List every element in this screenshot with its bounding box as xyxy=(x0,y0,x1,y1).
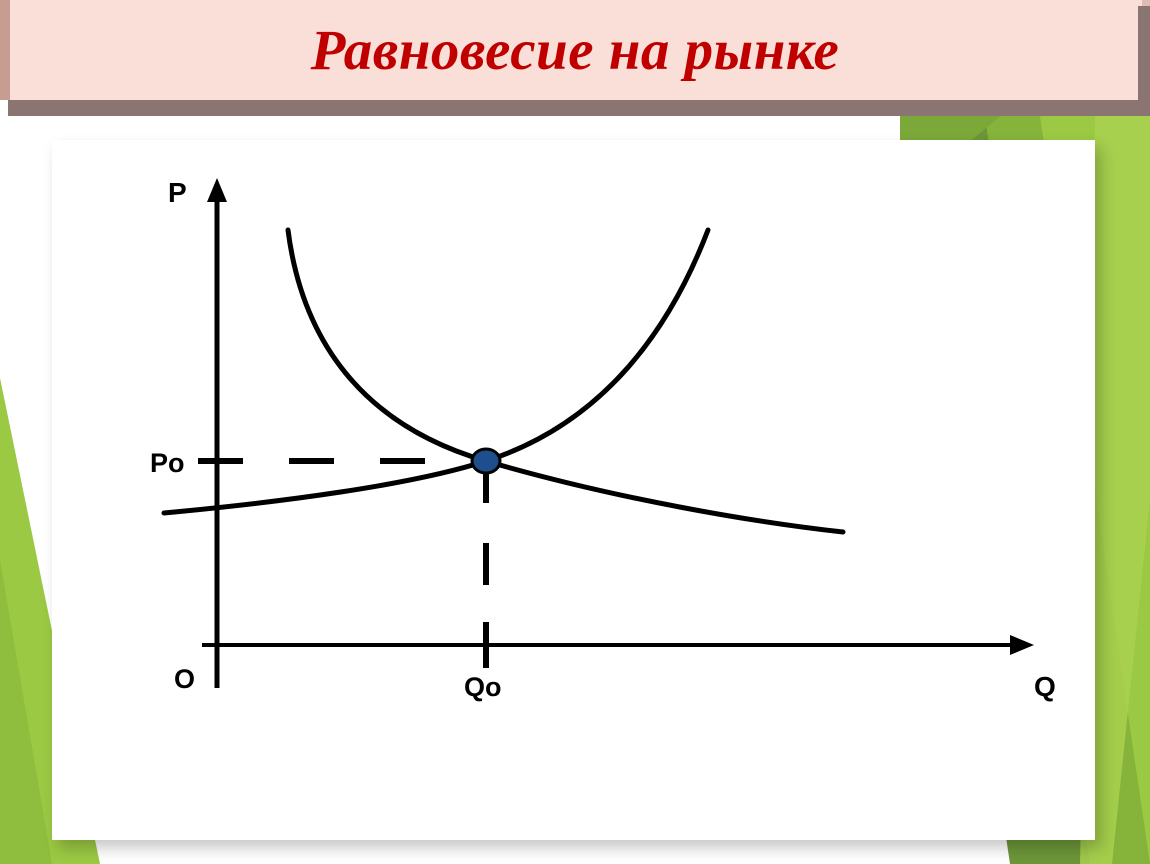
content-card: P Q O Pо Qо Pо – равновесная цена Qо – р… xyxy=(52,140,1095,840)
supply-curve xyxy=(164,230,708,513)
title-bar: Равновесие на рынке xyxy=(8,0,1142,100)
title-bevel-left xyxy=(0,0,10,100)
page-title: Равновесие на рынке xyxy=(8,0,1142,100)
caption-equilibrium-price: Pо – равновесная цена xyxy=(170,860,530,864)
y-tick-label-po: Pо xyxy=(150,448,185,478)
x-axis-arrow-head xyxy=(1010,635,1034,655)
y-axis-arrow-head xyxy=(207,178,227,202)
origin-label: O xyxy=(174,664,195,694)
caption-equilibrium-quantity: Qо – равновесное количество xyxy=(625,860,1025,864)
x-axis-label: Q xyxy=(1034,671,1056,702)
slide-canvas: Равновесие на рынке xyxy=(0,0,1150,864)
x-tick-label-qo: Qо xyxy=(464,672,502,702)
y-axis-label: P xyxy=(168,177,187,208)
equilibrium-point xyxy=(472,449,500,473)
title-bevel-right xyxy=(1138,6,1150,100)
supply-demand-chart: P Q O Pо Qо xyxy=(52,140,1095,840)
title-bevel-bottom xyxy=(8,100,1150,116)
